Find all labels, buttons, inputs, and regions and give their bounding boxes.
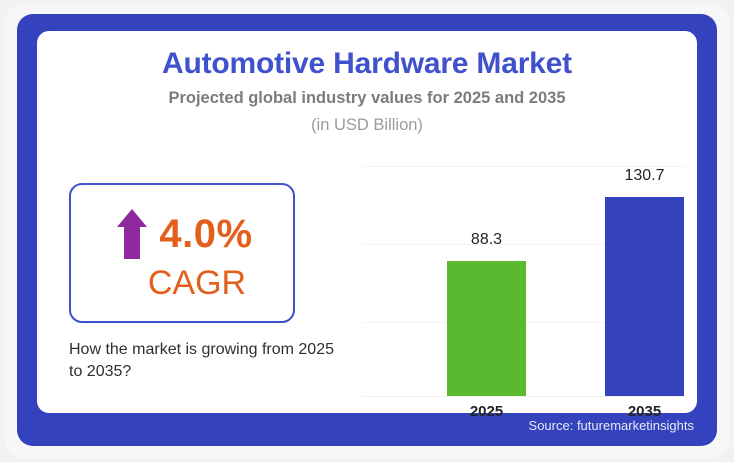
cagr-value: 4.0% <box>159 214 252 254</box>
cagr-label: CAGR <box>71 265 297 302</box>
bar-chart: 88.3 2025 130.7 2035 <box>362 127 687 399</box>
infographic-screenshot: Automotive Hardware Market Projected glo… <box>0 0 734 462</box>
bar-2025[interactable] <box>447 261 526 396</box>
bar-value-2035: 130.7 <box>605 167 684 185</box>
axis-baseline <box>362 396 687 397</box>
cagr-value-row: 4.0% <box>71 205 297 263</box>
subtitle: Projected global industry values for 202… <box>37 89 697 108</box>
growth-question: How the market is growing from 2025 to 2… <box>69 339 349 382</box>
arrow-up-icon <box>115 207 149 261</box>
bar-value-2025: 88.3 <box>447 231 526 249</box>
infographic-card: Automotive Hardware Market Projected glo… <box>37 31 697 413</box>
page-title: Automotive Hardware Market <box>37 47 697 81</box>
source-attribution: Source: futuremarketinsights <box>37 418 697 433</box>
cagr-callout-box: 4.0% CAGR <box>69 183 295 323</box>
bar-2035[interactable] <box>605 197 684 396</box>
